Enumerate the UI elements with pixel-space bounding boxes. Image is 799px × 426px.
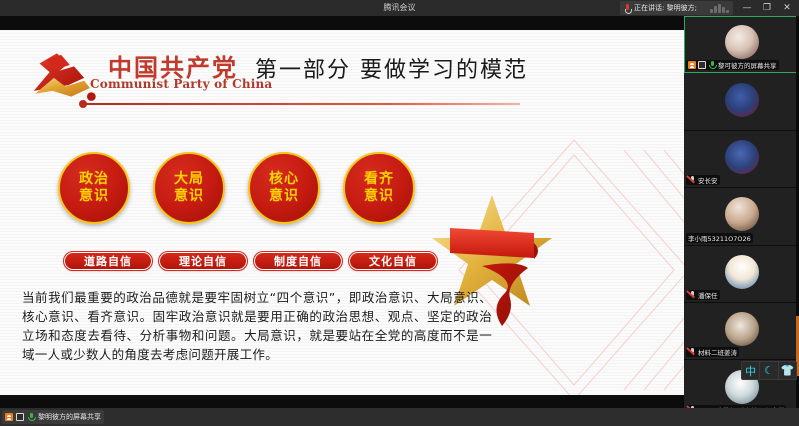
close-button[interactable]: ✕ xyxy=(777,0,797,16)
moon-icon[interactable]: ☾ xyxy=(760,361,778,380)
avatar xyxy=(725,312,759,346)
awareness-circle: 大局 意识 xyxy=(153,152,225,224)
participant-namebar: 黎可彼方的屏幕共享 xyxy=(686,60,779,70)
participant-tile[interactable]: 黎可彼方的屏幕共享 xyxy=(684,16,799,73)
awareness-circle: 核心 意识 xyxy=(248,152,320,224)
participant-name: 安长安 xyxy=(698,175,718,185)
participant-rail[interactable]: 黎可彼方的屏幕共享 安长安 李小雨53211O7O26 潘保任 材料二班姜涛 xyxy=(684,16,799,408)
participant-tile[interactable] xyxy=(684,73,799,130)
host-icon xyxy=(5,413,13,421)
party-name-en: Communist Party of China xyxy=(90,77,272,91)
confidence-pill-group: 道路自信 理论自信 制度自信 文化自信 xyxy=(56,252,476,272)
slide-section-title: 第一部分 要做学习的模范 xyxy=(255,52,528,84)
awareness-circle-group: 政治 意识 大局 意识 核心 意识 看齐 意识 xyxy=(58,152,458,238)
screen-share-icon xyxy=(16,413,24,421)
participant-name: 黎可彼方的屏幕共享 xyxy=(718,60,777,70)
participant-tile[interactable]: 李小雨53211O7O26 xyxy=(684,188,799,245)
presentation-slide: 中国共产党 Communist Party of China 第一部分 要做学习… xyxy=(0,30,684,395)
mic-on-icon xyxy=(708,61,716,69)
taskbar-share-item[interactable]: 黎明彼方的屏幕共享 xyxy=(2,410,104,424)
maximize-button[interactable]: ❐ xyxy=(757,0,777,16)
avatar xyxy=(725,140,759,174)
circle-line-2: 意识 xyxy=(269,188,299,205)
taskbar-item-label: 黎明彼方的屏幕共享 xyxy=(38,412,101,422)
circle-line-1: 大局 xyxy=(174,171,204,188)
participant-namebar: 潘保任 xyxy=(686,290,720,300)
speaking-label: 正在讲话: 黎明彼方; xyxy=(634,3,697,13)
awareness-circle: 看齐 意识 xyxy=(343,152,415,224)
confidence-pill: 道路自信 xyxy=(64,252,152,270)
confidence-pill: 文化自信 xyxy=(349,252,437,270)
ime-toolbar[interactable]: 中 ☾ 👕 xyxy=(741,361,797,380)
participant-name: 材料二班姜涛 xyxy=(698,347,737,357)
circle-line-2: 意识 xyxy=(79,188,109,205)
mic-muted-icon xyxy=(688,348,696,356)
participant-name: 潘保任 xyxy=(698,290,718,300)
host-icon xyxy=(688,61,696,69)
circle-line-1: 核心 xyxy=(269,171,299,188)
audio-wave-icon xyxy=(710,4,729,13)
circle-line-1: 看齐 xyxy=(364,171,394,188)
confidence-pill: 制度自信 xyxy=(254,252,342,270)
awareness-circle: 政治 意识 xyxy=(58,152,130,224)
avatar xyxy=(725,255,759,289)
window-controls: — ❐ ✕ xyxy=(737,0,797,16)
participant-namebar: 李小雨53211O7O26 xyxy=(686,233,753,243)
skin-icon[interactable]: 👕 xyxy=(779,361,796,380)
participant-tile[interactable]: 潘保任 xyxy=(684,246,799,303)
party-emblem-icon xyxy=(28,46,100,104)
circle-line-2: 意识 xyxy=(364,188,394,205)
taskbar: 黎明彼方的屏幕共享 xyxy=(0,408,799,426)
slide-body-text: 当前我们最重要的政治品德就是要牢固树立“四个意识”，即政治意识、大局意识、核心意… xyxy=(22,288,492,364)
shared-screen-stage: 中国共产党 Communist Party of China 第一部分 要做学习… xyxy=(0,16,684,408)
circle-line-2: 意识 xyxy=(174,188,204,205)
avatar xyxy=(725,25,759,59)
window-titlebar: 腾讯会议 正在讲话: 黎明彼方; — ❐ ✕ xyxy=(0,0,799,16)
microphone-icon xyxy=(624,4,631,13)
participant-tile[interactable]: 材料二班姜涛 xyxy=(684,303,799,360)
confidence-pill: 理论自信 xyxy=(159,252,247,270)
mic-on-icon xyxy=(27,413,35,421)
avatar xyxy=(725,83,759,117)
participant-name: 李小雨53211O7O26 xyxy=(688,233,751,243)
mic-muted-icon xyxy=(688,291,696,299)
circle-line-1: 政治 xyxy=(79,171,109,188)
participant-namebar: 材料二班姜涛 xyxy=(686,347,739,357)
slide-header: 中国共产党 Communist Party of China 第一部分 要做学习… xyxy=(0,30,684,108)
minimize-button[interactable]: — xyxy=(737,0,757,16)
avatar xyxy=(725,197,759,231)
mic-muted-icon xyxy=(688,176,696,184)
participant-tile[interactable]: 安长安 xyxy=(684,131,799,188)
speaking-indicator: 正在讲话: 黎明彼方; xyxy=(620,1,733,15)
screen-share-icon xyxy=(698,61,706,69)
participant-namebar: 安长安 xyxy=(686,175,720,185)
header-divider xyxy=(85,103,520,105)
ime-mode-button[interactable]: 中 xyxy=(742,361,760,380)
